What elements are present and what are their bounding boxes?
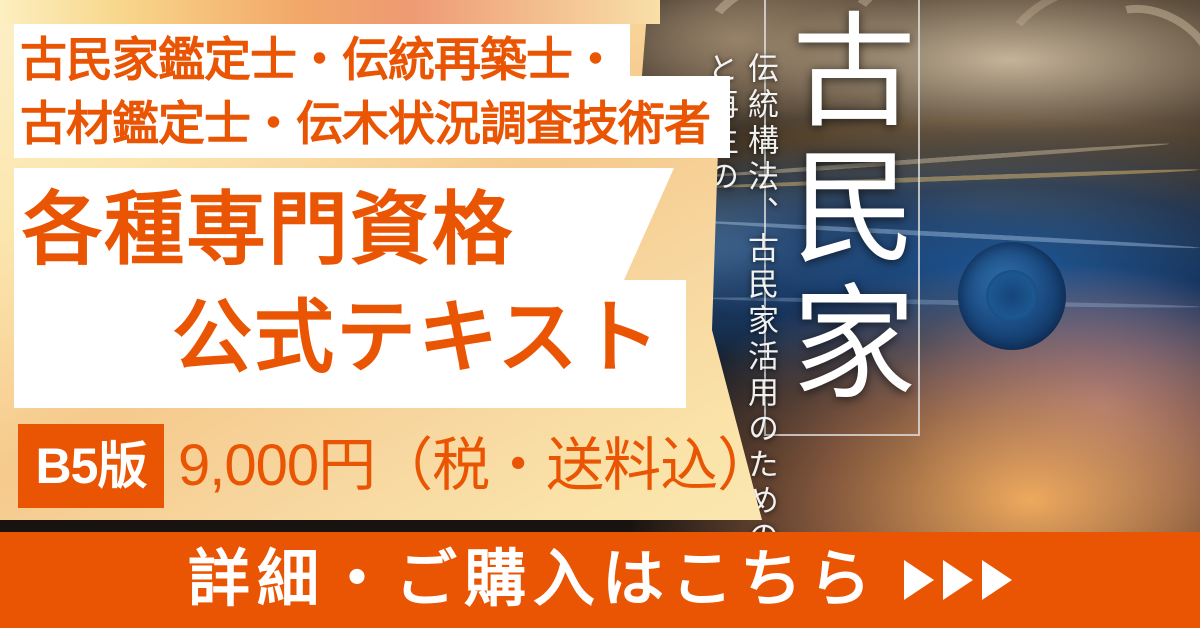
qualifications-line-2: 古材鑑定士・伝木状況調査技術者	[20, 92, 730, 156]
chevron-right-icon	[904, 560, 934, 600]
cta-label: 詳細・ご購入はこちら	[188, 532, 878, 628]
family-crest-medallion	[958, 242, 1066, 350]
chevron-right-icon	[943, 560, 973, 600]
chevron-right-icon	[982, 560, 1012, 600]
qualifications-line-1: 古民家鑑定士・伝統再築士・	[20, 28, 730, 92]
cta-button-bar[interactable]: 詳細・ご購入はこちら	[0, 532, 1200, 628]
size-badge-b5: B5版	[18, 424, 164, 508]
qualifications-text: 古民家鑑定士・伝統再築士・ 古材鑑定士・伝木状況調査技術者	[20, 28, 730, 156]
promo-banner: 古民家 伝統構法、古民家活用のための調査と再生の 古民家鑑定士・伝統再築士・ 古…	[0, 0, 1200, 628]
headline-line-1: 各種専門資格	[22, 176, 702, 284]
headline-text: 各種専門資格 公式テキスト	[22, 176, 702, 392]
price-text: 9,000円（税・送料込）	[178, 424, 774, 508]
top-gradient-strip	[0, 0, 660, 24]
headline-line-2: 公式テキスト	[22, 284, 702, 392]
cta-arrows	[904, 560, 1012, 600]
cover-title-vertical: 古民家	[772, 6, 912, 414]
